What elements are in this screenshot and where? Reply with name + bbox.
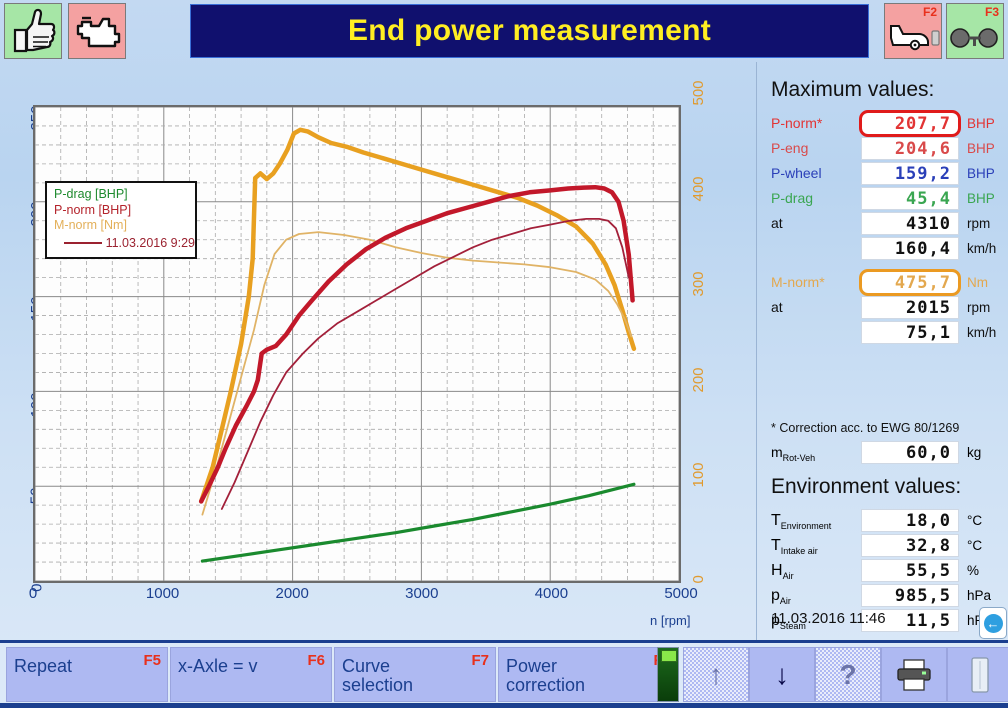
max-pwheel-label: P-wheel bbox=[771, 165, 822, 181]
torque-kmh-field[interactable]: 75,1 bbox=[861, 321, 959, 344]
max-peng-row: P-eng204,6BHP bbox=[767, 137, 1001, 161]
env-air-unit: % bbox=[967, 563, 979, 578]
max-values-heading: Maximum values: bbox=[771, 78, 934, 102]
max-at-row: at4310rpm bbox=[767, 212, 1001, 236]
function-toolbar: RepeatF5x-Axle = vF6Curve selectionF7Pow… bbox=[0, 643, 1008, 708]
printer-button[interactable] bbox=[881, 647, 947, 702]
max-kmh-value: 160,4 bbox=[895, 239, 951, 259]
max-at-field[interactable]: 4310 bbox=[861, 212, 959, 235]
max-kmh-row: 160,4km/h bbox=[767, 237, 1001, 261]
torque-mnorm-field[interactable]: 475,7 bbox=[861, 271, 959, 294]
torque-at-label: at bbox=[771, 299, 783, 315]
back-arrow-icon: ← bbox=[984, 614, 1003, 633]
repeat-button-label: Repeat bbox=[14, 657, 72, 676]
status-bar bbox=[0, 703, 1008, 708]
max-pdrag-unit: BHP bbox=[967, 191, 995, 206]
curve-selection-button-label: Curve selection bbox=[342, 657, 413, 695]
roller-axle-button-fkey: F3 bbox=[985, 5, 999, 19]
env-environment-field[interactable]: 18,0 bbox=[861, 509, 959, 532]
mass-label: mRot-Veh bbox=[771, 444, 815, 463]
torque-mnorm-label: M-norm* bbox=[771, 274, 825, 290]
env-air-row: HAir55,5% bbox=[767, 559, 1001, 583]
env-environment-value: 18,0 bbox=[906, 511, 951, 531]
torque-mnorm-unit: Nm bbox=[967, 275, 988, 290]
max-pdrag-field[interactable]: 45,4 bbox=[861, 187, 959, 210]
repeat-button[interactable]: RepeatF5 bbox=[6, 647, 168, 702]
roller-axle-icon bbox=[947, 18, 1003, 58]
mass-unit: kg bbox=[967, 445, 981, 460]
torque-mnorm-value: 475,7 bbox=[895, 273, 951, 293]
x-tick: 5000 bbox=[664, 585, 697, 602]
env-intakeair-row: TIntake air32,8°C bbox=[767, 534, 1001, 558]
plot-canvas bbox=[35, 107, 679, 581]
max-peng-unit: BHP bbox=[967, 141, 995, 156]
legend-date-label: 11.03.2016 9:29 bbox=[106, 236, 195, 252]
help-question-button: ? bbox=[815, 647, 881, 702]
mass-row: mRot-Veh 60,0 kg bbox=[767, 441, 1001, 465]
x-axis: 010002000300040005000 bbox=[33, 585, 681, 607]
env-intakeair-value: 32,8 bbox=[906, 536, 951, 556]
env-air-value: 55,5 bbox=[906, 561, 951, 581]
env-air-label: HAir bbox=[771, 562, 794, 581]
x-axle-button-fkey: F6 bbox=[307, 652, 325, 669]
max-pnorm-row: P-norm*207,7BHP bbox=[767, 112, 1001, 136]
legend-rule bbox=[64, 242, 102, 244]
env-intakeair-label: TIntake air bbox=[771, 537, 818, 556]
power-chart: 050100150200250 0100200300400500 0100020… bbox=[0, 62, 756, 640]
window-title-bar: End power measurement bbox=[190, 4, 869, 58]
arrow-up-button: ↑ bbox=[683, 647, 749, 702]
legend-item-p-norm: P-norm [BHP] bbox=[54, 203, 195, 219]
torque-at-field[interactable]: 2015 bbox=[861, 296, 959, 319]
env-steam-value: 11,5 bbox=[906, 611, 951, 631]
torque-at-value: 2015 bbox=[906, 298, 951, 318]
max-pwheel-unit: BHP bbox=[967, 166, 995, 181]
curve-selection-button-fkey: F7 bbox=[471, 652, 489, 669]
arrow-down-icon: ↓ bbox=[775, 661, 789, 689]
y-tick-right: 100 bbox=[690, 463, 707, 488]
env-environment-row: TEnvironment18,0°C bbox=[767, 509, 1001, 533]
roller-axle-button[interactable]: F3 bbox=[946, 3, 1004, 59]
vehicle-button-fkey: F2 bbox=[923, 5, 937, 19]
y-tick-right: 400 bbox=[690, 176, 707, 201]
max-pdrag-row: P-drag45,4BHP bbox=[767, 187, 1001, 211]
mass-label-main: m bbox=[771, 444, 783, 460]
power-correction-button[interactable]: Power correctionF8 bbox=[498, 647, 678, 702]
y-axis-right: 0100200300400500 bbox=[684, 105, 728, 583]
max-pwheel-field[interactable]: 159,2 bbox=[861, 162, 959, 185]
y-tick-right: 0 bbox=[690, 575, 707, 583]
vehicle-button[interactable]: F2 bbox=[884, 3, 942, 59]
max-kmh-unit: km/h bbox=[967, 241, 996, 256]
env-air-unit: hPa bbox=[967, 588, 991, 603]
max-at-unit: rpm bbox=[967, 216, 990, 231]
curve-selection-button[interactable]: Curve selectionF7 bbox=[334, 647, 496, 702]
max-at-label: at bbox=[771, 215, 783, 231]
legend-item-p-drag: P-drag [BHP] bbox=[54, 187, 195, 203]
document-button[interactable] bbox=[947, 647, 1008, 702]
torque-at-unit: rpm bbox=[967, 300, 990, 315]
page-title: End power measurement bbox=[348, 14, 711, 48]
env-environment-unit: °C bbox=[967, 513, 982, 528]
legend-item-m-norm: M-norm [Nm] bbox=[54, 218, 195, 234]
x-axle-button[interactable]: x-Axle = vF6 bbox=[170, 647, 332, 702]
printer-icon bbox=[894, 658, 934, 692]
series-p-engbhp bbox=[222, 219, 629, 509]
max-peng-value: 204,6 bbox=[895, 139, 951, 159]
env-intakeair-field[interactable]: 32,8 bbox=[861, 534, 959, 557]
max-pwheel-row: P-wheel159,2BHP bbox=[767, 162, 1001, 186]
x-tick: 4000 bbox=[535, 585, 568, 602]
x-tick: 3000 bbox=[405, 585, 438, 602]
max-kmh-field[interactable]: 160,4 bbox=[861, 237, 959, 260]
max-peng-label: P-eng bbox=[771, 140, 808, 156]
x-axle-button-label: x-Axle = v bbox=[178, 657, 258, 676]
env-air-field[interactable]: 985,5 bbox=[861, 584, 959, 607]
chart-legend: P-drag [BHP] P-norm [BHP] M-norm [Nm] 11… bbox=[45, 181, 197, 259]
max-pdrag-label: P-drag bbox=[771, 190, 813, 206]
document-icon bbox=[967, 656, 993, 694]
max-pdrag-value: 45,4 bbox=[906, 189, 951, 209]
dyno-power-measurement-window: End power measurement F2 F3 050100150200… bbox=[0, 0, 1008, 708]
env-environment-label: TEnvironment bbox=[771, 512, 831, 531]
vehicle-icon bbox=[885, 18, 941, 58]
y-tick-right: 500 bbox=[690, 80, 707, 105]
status-led-bar bbox=[657, 647, 679, 702]
thumbs-up-button[interactable] bbox=[4, 3, 62, 59]
led-indicator bbox=[661, 650, 677, 662]
torque-kmh-value: 75,1 bbox=[906, 323, 951, 343]
env-air-value: 985,5 bbox=[895, 586, 951, 606]
arrow-down-button[interactable]: ↓ bbox=[749, 647, 815, 702]
mass-value: 60,0 bbox=[906, 443, 951, 463]
max-pnorm-field[interactable]: 207,7 bbox=[861, 112, 959, 135]
plot-area[interactable] bbox=[33, 105, 681, 583]
y-tick-right: 200 bbox=[690, 367, 707, 392]
max-at-value: 4310 bbox=[906, 214, 951, 234]
y-tick-right: 300 bbox=[690, 272, 707, 297]
env-intakeair-unit: °C bbox=[967, 538, 982, 553]
timestamp: 11.03.2016 11:46 bbox=[771, 610, 886, 627]
help-question-icon: ? bbox=[839, 661, 856, 689]
thumbs-up-icon bbox=[5, 4, 61, 58]
torque-mnorm-row: M-norm*475,7Nm bbox=[767, 271, 1001, 295]
env-air-field[interactable]: 55,5 bbox=[861, 559, 959, 582]
max-pwheel-value: 159,2 bbox=[895, 164, 951, 184]
x-tick: 2000 bbox=[276, 585, 309, 602]
x-axis-label: n [rpm] bbox=[650, 613, 690, 628]
arrow-up-icon: ↑ bbox=[709, 661, 723, 689]
x-tick: 0 bbox=[29, 585, 37, 602]
engine-icon bbox=[69, 4, 125, 58]
repeat-button-fkey: F5 bbox=[143, 652, 161, 669]
x-tick: 1000 bbox=[146, 585, 179, 602]
values-panel: Maximum values: P-norm*207,7BHPP-eng204,… bbox=[756, 62, 1008, 640]
y-axis-left: 050100150200250 bbox=[0, 105, 32, 583]
max-pnorm-label: P-norm* bbox=[771, 115, 822, 131]
max-pnorm-value: 207,7 bbox=[895, 114, 951, 134]
mass-label-sub: Rot-Veh bbox=[783, 453, 816, 463]
legend-item-date: 11.03.2016 9:29 bbox=[54, 236, 195, 252]
max-peng-field[interactable]: 204,6 bbox=[861, 137, 959, 160]
torque-kmh-row: 75,1km/h bbox=[767, 321, 1001, 345]
mass-field[interactable]: 60,0 bbox=[861, 441, 959, 464]
torque-kmh-unit: km/h bbox=[967, 325, 996, 340]
torque-at-row: at2015rpm bbox=[767, 296, 1001, 320]
env-air-label: pAir bbox=[771, 587, 791, 606]
max-pnorm-unit: BHP bbox=[967, 116, 995, 131]
engine-button[interactable] bbox=[68, 3, 126, 59]
env-air-row: pAir985,5hPa bbox=[767, 584, 1001, 608]
series-p-normbhp bbox=[201, 187, 632, 501]
power-correction-button-label: Power correction bbox=[506, 657, 585, 695]
top-toolbar: End power measurement F2 F3 bbox=[0, 0, 1008, 62]
back-button[interactable]: ← bbox=[979, 607, 1007, 639]
environment-heading: Environment values: bbox=[771, 475, 961, 499]
correction-note: * Correction acc. to EWG 80/1269 bbox=[771, 421, 959, 435]
